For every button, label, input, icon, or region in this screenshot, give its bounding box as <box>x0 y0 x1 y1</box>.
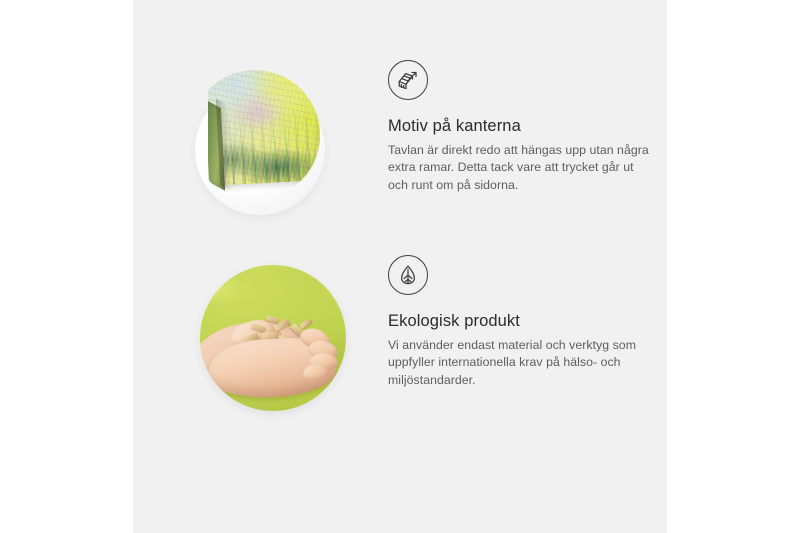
infographic-page: Motiv på kanterna Tavlan är direkt redo … <box>0 0 800 533</box>
feature-description: Vi använder endast material och verktyg … <box>388 337 656 389</box>
feature-title: Motiv på kanterna <box>388 117 660 137</box>
canvas-wrap-edge-icon <box>388 60 428 100</box>
feature-title: Ekologisk produkt <box>388 312 660 332</box>
hands-holding-wood-chips-photo <box>190 255 350 415</box>
feature-block-edges: Motiv på kanterna Tavlan är direkt redo … <box>133 60 667 260</box>
content-panel: Motiv på kanterna Tavlan är direkt redo … <box>133 0 667 533</box>
feature-text-edges: Motiv på kanterna Tavlan är direkt redo … <box>388 60 660 194</box>
feature-text-eco: Ekologisk produkt Vi använder endast mat… <box>388 255 660 389</box>
feature-block-eco: Ekologisk produkt Vi använder endast mat… <box>133 255 667 455</box>
canvas-print-corner-photo <box>190 60 350 220</box>
feature-description: Tavlan är direkt redo att hängas upp uta… <box>388 142 656 194</box>
green-circle-photo <box>200 265 346 411</box>
canvas-image-clip <box>208 65 338 200</box>
leaf-icon <box>388 255 428 295</box>
